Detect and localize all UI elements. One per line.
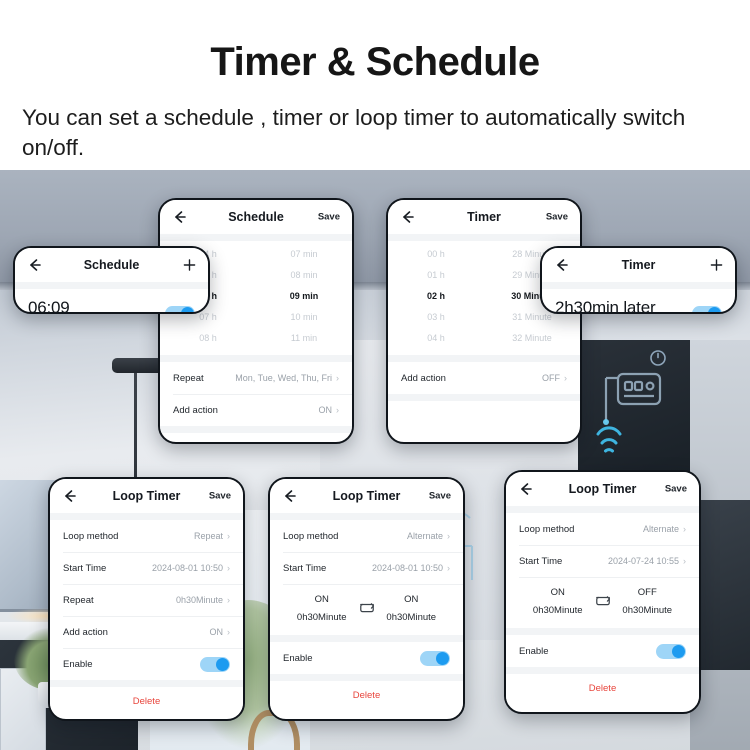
timer-entry-text: 2h30min later OFF 07-25 14:43 (555, 299, 655, 314)
loop-enable-row[interactable]: Enable (270, 642, 463, 674)
schedule-edit-save-button[interactable]: Save (318, 212, 340, 223)
loop-start-time-row[interactable]: Start Time 2024-08-01 10:50 › (50, 552, 243, 584)
row-label: Enable (63, 659, 93, 670)
row-value-text: Alternate (407, 531, 443, 541)
chevron-right-icon: › (447, 563, 450, 573)
picker-option[interactable]: 07 min (256, 244, 352, 265)
alternate-states-block[interactable]: ON 0h30Minute ON 0h30Minute (270, 584, 463, 635)
timer-entry-time: 2h30min later (555, 299, 655, 314)
loop-delete-button[interactable]: Delete (506, 674, 699, 705)
divider (50, 513, 243, 520)
picker-option[interactable]: 11 min (256, 328, 352, 349)
alternate-right-state-label: ON (378, 594, 446, 605)
picker-option[interactable]: 00 h (388, 244, 484, 265)
schedule-entry-time: 06:09 (28, 299, 109, 314)
alternate-left-state[interactable]: ON 0h30Minute (288, 594, 356, 623)
back-arrow-icon[interactable] (172, 209, 188, 225)
page-title: Timer & Schedule (0, 40, 750, 85)
row-value-text: 2024-07-24 10:55 (608, 556, 679, 566)
alternate-right-state-label: OFF (614, 587, 682, 598)
alternate-left-duration: 0h30Minute (524, 605, 592, 616)
timer-edit-card[interactable]: Timer Save 00 h 01 h 02 h 03 h 04 h 28 M… (386, 198, 582, 444)
schedule-add-action-row[interactable]: Add action ON › (160, 394, 352, 426)
timer-list-navbar: Timer (542, 248, 735, 282)
loop-enable-toggle[interactable] (200, 657, 230, 672)
alternate-left-state-label: ON (524, 587, 592, 598)
alternate-left-state-label: ON (288, 594, 356, 605)
row-value-text: ON (210, 627, 224, 637)
divider (50, 680, 243, 687)
picker-option-selected[interactable]: 09 min (256, 286, 352, 307)
row-label: Loop method (283, 531, 338, 542)
row-label: Repeat (173, 373, 204, 384)
alternate-states-block[interactable]: ON 0h30Minute OFF 0h30Minute (506, 577, 699, 628)
divider (160, 234, 352, 241)
alternate-left-duration: 0h30Minute (288, 612, 356, 623)
row-value: Alternate › (407, 531, 450, 541)
loop-enable-toggle[interactable] (656, 644, 686, 659)
divider (506, 667, 699, 674)
back-arrow-icon[interactable] (518, 481, 534, 497)
divider (388, 394, 580, 401)
row-value-text: OFF (542, 373, 560, 383)
right-dark-cabinet (700, 500, 750, 670)
loop-enable-row[interactable]: Enable (50, 648, 243, 680)
row-label: Start Time (63, 563, 106, 574)
loop-repeat-icon (592, 594, 614, 610)
alternate-right-duration: 0h30Minute (378, 612, 446, 623)
timer-edit-save-button[interactable]: Save (546, 212, 568, 223)
page-root: Timer & Schedule You can set a schedule … (0, 0, 750, 750)
divider (388, 355, 580, 362)
schedule-minute-column[interactable]: 07 min 08 min 09 min 10 min 11 min (256, 244, 352, 349)
loop-alt2-save-button[interactable]: Save (665, 484, 687, 495)
loop-repeat-navbar: Loop Timer Save (50, 479, 243, 513)
row-value: Alternate › (643, 524, 686, 534)
power-badge-icon (650, 350, 666, 366)
smart-device-wifi-icon (596, 360, 682, 470)
loop-method-row[interactable]: Loop method Alternate › (506, 513, 699, 545)
back-arrow-icon[interactable] (282, 488, 298, 504)
timer-add-action-row[interactable]: Add action OFF › (388, 362, 580, 394)
back-arrow-icon[interactable] (27, 257, 43, 273)
schedule-list-title: Schedule (15, 258, 208, 272)
loop-start-time-row[interactable]: Start Time 2024-07-24 10:55 › (506, 545, 699, 577)
row-value: OFF › (542, 373, 567, 383)
row-value-text: Repeat (194, 531, 223, 541)
row-label: Add action (173, 405, 218, 416)
schedule-entry-text: 06:09 ON Mon,Tue,Wed,Thu,Fri (28, 299, 109, 314)
schedule-entry-toggle[interactable] (165, 306, 195, 314)
row-value: Repeat › (194, 531, 230, 541)
schedule-repeat-row[interactable]: Repeat Mon, Tue, Wed, Thu, Fri › (160, 362, 352, 394)
timer-edit-navbar: Timer Save (388, 200, 580, 234)
schedule-list-navbar: Schedule (15, 248, 208, 282)
back-arrow-icon[interactable] (62, 488, 78, 504)
picker-option-selected[interactable]: 02 h (388, 286, 484, 307)
loop-timer-alternate-on-on-card[interactable]: Loop Timer Save Loop method Alternate › … (268, 477, 465, 721)
chevron-right-icon: › (227, 627, 230, 637)
loop-alt1-save-button[interactable]: Save (429, 491, 451, 502)
row-value: 2024-07-24 10:55 › (608, 556, 686, 566)
chevron-right-icon: › (336, 373, 339, 383)
divider (542, 282, 735, 289)
schedule-edit-navbar: Schedule Save (160, 200, 352, 234)
row-value: ON › (319, 405, 340, 415)
chevron-right-icon: › (336, 405, 339, 415)
chevron-right-icon: › (447, 531, 450, 541)
loop-delete-button[interactable]: Delete (50, 687, 243, 718)
chevron-right-icon: › (683, 556, 686, 566)
loop-method-row[interactable]: Loop method Repeat › (50, 520, 243, 552)
alternate-right-duration: 0h30Minute (614, 605, 682, 616)
timer-entry-item[interactable]: 2h30min later OFF 07-25 14:43 (542, 289, 735, 314)
loop-repeat-icon (356, 601, 378, 617)
loop-start-time-row[interactable]: Start Time 2024-08-01 10:50 › (270, 552, 463, 584)
schedule-entry-item[interactable]: 06:09 ON Mon,Tue,Wed,Thu,Fri (15, 289, 208, 314)
chevron-right-icon: › (227, 595, 230, 605)
loop-delete-button[interactable]: Delete (270, 681, 463, 712)
loop-repeat-save-button[interactable]: Save (209, 491, 231, 502)
timer-list-title: Timer (542, 258, 735, 272)
row-label: Enable (519, 646, 549, 657)
page-subtitle: You can set a schedule , timer or loop t… (22, 103, 734, 163)
alternate-right-state[interactable]: ON 0h30Minute (378, 594, 446, 623)
timer-hour-column[interactable]: 00 h 01 h 02 h 03 h 04 h (388, 244, 484, 349)
picker-option[interactable]: 04 h (388, 328, 484, 349)
timer-list-card[interactable]: Timer 2h30min later OFF 07-25 14:43 (540, 246, 737, 314)
row-value-text: 0h30Minute (176, 595, 223, 605)
page-header: Timer & Schedule You can set a schedule … (0, 0, 750, 170)
loop-enable-toggle[interactable] (420, 651, 450, 666)
divider (160, 355, 352, 362)
chevron-right-icon: › (683, 524, 686, 534)
picker-option[interactable]: 01 h (388, 265, 484, 286)
loop-timer-alternate-on-off-card[interactable]: Loop Timer Save Loop method Alternate › … (504, 470, 701, 714)
row-label: Enable (283, 653, 313, 664)
row-value-text: 2024-08-01 10:50 (152, 563, 223, 573)
loop-timer-repeat-card[interactable]: Loop Timer Save Loop method Repeat › Sta… (48, 477, 245, 721)
loop-add-action-row[interactable]: Add action ON › (50, 616, 243, 648)
row-value-text: 2024-08-01 10:50 (372, 563, 443, 573)
loop-alt1-navbar: Loop Timer Save (270, 479, 463, 513)
back-arrow-icon[interactable] (554, 257, 570, 273)
schedule-edit-card[interactable]: Schedule Save 04 h 05 h 06 h 07 h 08 h 0… (158, 198, 354, 444)
row-label: Loop method (63, 531, 118, 542)
picker-option[interactable]: 32 Minute (484, 328, 580, 349)
row-label: Start Time (519, 556, 562, 567)
divider (270, 674, 463, 681)
row-value: 2024-08-01 10:50 › (372, 563, 450, 573)
plus-icon[interactable] (183, 259, 196, 272)
row-label: Loop method (519, 524, 574, 535)
schedule-list-card[interactable]: Schedule 06:09 ON Mon,Tue,Wed,Thu,Fri (13, 246, 210, 314)
loop-enable-row[interactable]: Enable (506, 635, 699, 667)
row-value-text: Alternate (643, 524, 679, 534)
picker-option[interactable]: 08 min (256, 265, 352, 286)
row-label: Add action (63, 627, 108, 638)
row-value: ON › (210, 627, 231, 637)
picker-option[interactable]: 08 h (160, 328, 256, 349)
picker-option[interactable]: 03 h (388, 307, 484, 328)
alternate-right-state[interactable]: OFF 0h30Minute (614, 587, 682, 616)
divider (506, 628, 699, 635)
row-value-text: Mon, Tue, Wed, Thu, Fri (235, 373, 332, 383)
row-label: Repeat (63, 595, 94, 606)
loop-alt2-navbar: Loop Timer Save (506, 472, 699, 506)
chevron-right-icon: › (564, 373, 567, 383)
row-value: Mon, Tue, Wed, Thu, Fri › (235, 373, 339, 383)
row-value: 0h30Minute › (176, 595, 230, 605)
row-label: Start Time (283, 563, 326, 574)
chevron-right-icon: › (227, 563, 230, 573)
back-arrow-icon[interactable] (400, 209, 416, 225)
loop-repeat-duration-row[interactable]: Repeat 0h30Minute › (50, 584, 243, 616)
alternate-left-state[interactable]: ON 0h30Minute (524, 587, 592, 616)
row-label: Add action (401, 373, 446, 384)
divider (388, 234, 580, 241)
divider (160, 426, 352, 433)
divider (270, 635, 463, 642)
pendant-mount (112, 358, 164, 373)
picker-option[interactable]: 10 min (256, 307, 352, 328)
loop-method-row[interactable]: Loop method Alternate › (270, 520, 463, 552)
divider (270, 513, 463, 520)
plus-icon[interactable] (710, 259, 723, 272)
divider (506, 506, 699, 513)
divider (15, 282, 208, 289)
chevron-right-icon: › (227, 531, 230, 541)
row-value: 2024-08-01 10:50 › (152, 563, 230, 573)
row-value-text: ON (319, 405, 333, 415)
timer-entry-toggle[interactable] (692, 306, 722, 314)
